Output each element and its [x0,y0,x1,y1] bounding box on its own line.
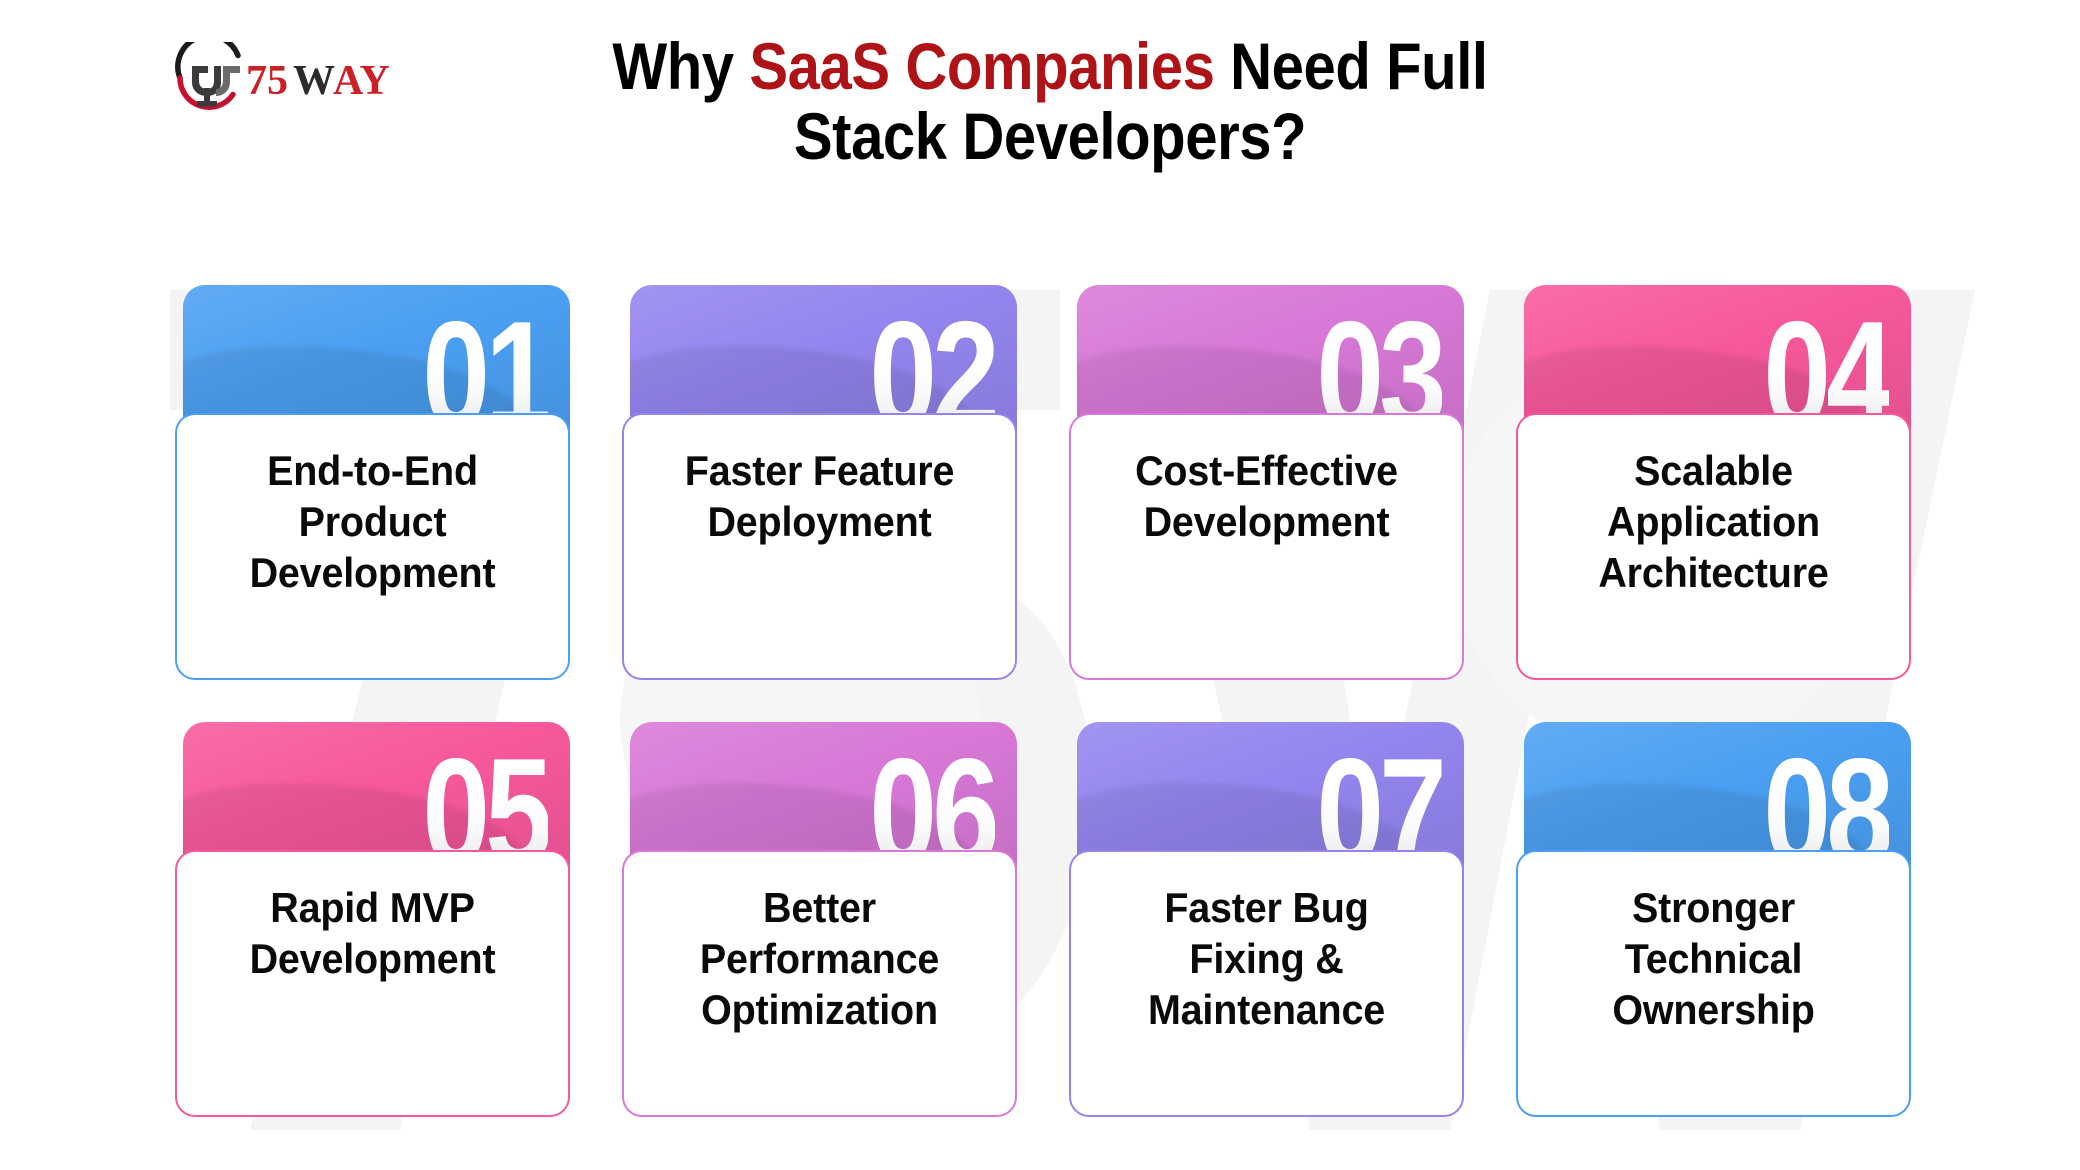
card-body-05: Rapid MVP Development [175,850,570,1117]
card-body-03: Cost-Effective Development [1069,413,1464,680]
card-body-02: Faster Feature Deployment [622,413,1017,680]
benefit-card-04[interactable]: 04 Scalable Application Architecture [1516,285,1911,680]
benefit-card-05[interactable]: 05 Rapid MVP Development [175,722,570,1117]
infographic-canvas: 75 W AY Why SaaS Companies Need Full Sta… [0,0,2080,1170]
benefit-card-01[interactable]: 01 End-to-End Product Development [175,285,570,680]
logo-number-text: 75 [246,58,288,104]
logo-ay-text: AY [333,58,390,104]
w-monogram-icon [190,66,240,107]
card-label-05: Rapid MVP Development [213,882,532,984]
title-part-1: Why [612,29,749,103]
logo-w-text: W [293,58,335,104]
card-label-07: Faster Bug Fixing & Maintenance [1107,882,1426,1036]
benefit-card-08[interactable]: 08 Stronger Technical Ownership [1516,722,1911,1117]
card-body-01: End-to-End Product Development [175,413,570,680]
title-part-2: Need Full [1214,29,1487,103]
card-label-08: Stronger Technical Ownership [1554,882,1873,1036]
page-title: Why SaaS Companies Need Full Stack Devel… [430,32,1670,172]
benefit-card-03[interactable]: 03 Cost-Effective Development [1069,285,1464,680]
card-body-07: Faster Bug Fixing & Maintenance [1069,850,1464,1117]
card-body-06: Better Performance Optimization [622,850,1017,1117]
benefit-card-07[interactable]: 07 Faster Bug Fixing & Maintenance [1069,722,1464,1117]
card-body-04: Scalable Application Architecture [1516,413,1911,680]
card-label-03: Cost-Effective Development [1107,445,1426,547]
card-label-01: End-to-End Product Development [213,445,532,599]
page-title-line-2: Stack Developers? [504,102,1595,172]
page-title-line-1: Why SaaS Companies Need Full [504,32,1595,102]
page-header: 75 W AY Why SaaS Companies Need Full Sta… [0,0,2080,200]
title-accent: SaaS Companies [749,29,1214,103]
75way-logo[interactable]: 75 W AY [168,42,398,114]
card-body-08: Stronger Technical Ownership [1516,850,1911,1117]
card-label-06: Better Performance Optimization [660,882,979,1036]
benefit-card-06[interactable]: 06 Better Performance Optimization [622,722,1017,1117]
benefits-card-grid: 01 End-to-End Product Development 02 Fas… [175,285,1915,1117]
card-label-02: Faster Feature Deployment [660,445,979,547]
card-label-04: Scalable Application Architecture [1554,445,1873,599]
benefit-card-02[interactable]: 02 Faster Feature Deployment [622,285,1017,680]
